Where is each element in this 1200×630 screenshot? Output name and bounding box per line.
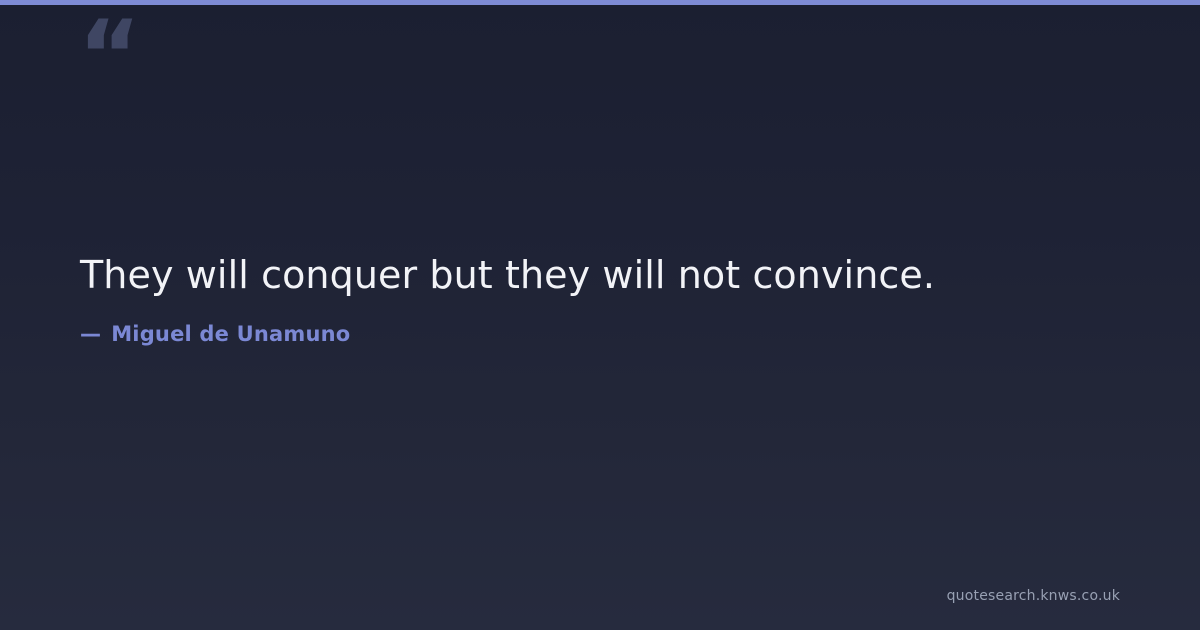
quote-content: They will conquer but they will not conv… — [80, 250, 1120, 346]
quote-attribution: — Miguel de Unamuno — [80, 322, 1120, 346]
top-accent-bar — [0, 0, 1200, 5]
author-name: Miguel de Unamuno — [111, 322, 350, 346]
em-dash: — — [80, 322, 101, 346]
quote-text: They will conquer but they will not conv… — [80, 250, 1120, 300]
opening-quote-icon: “ — [78, 8, 139, 104]
quote-card: “ They will conquer but they will not co… — [0, 0, 1200, 630]
site-watermark: quotesearch.knws.co.uk — [947, 588, 1120, 604]
